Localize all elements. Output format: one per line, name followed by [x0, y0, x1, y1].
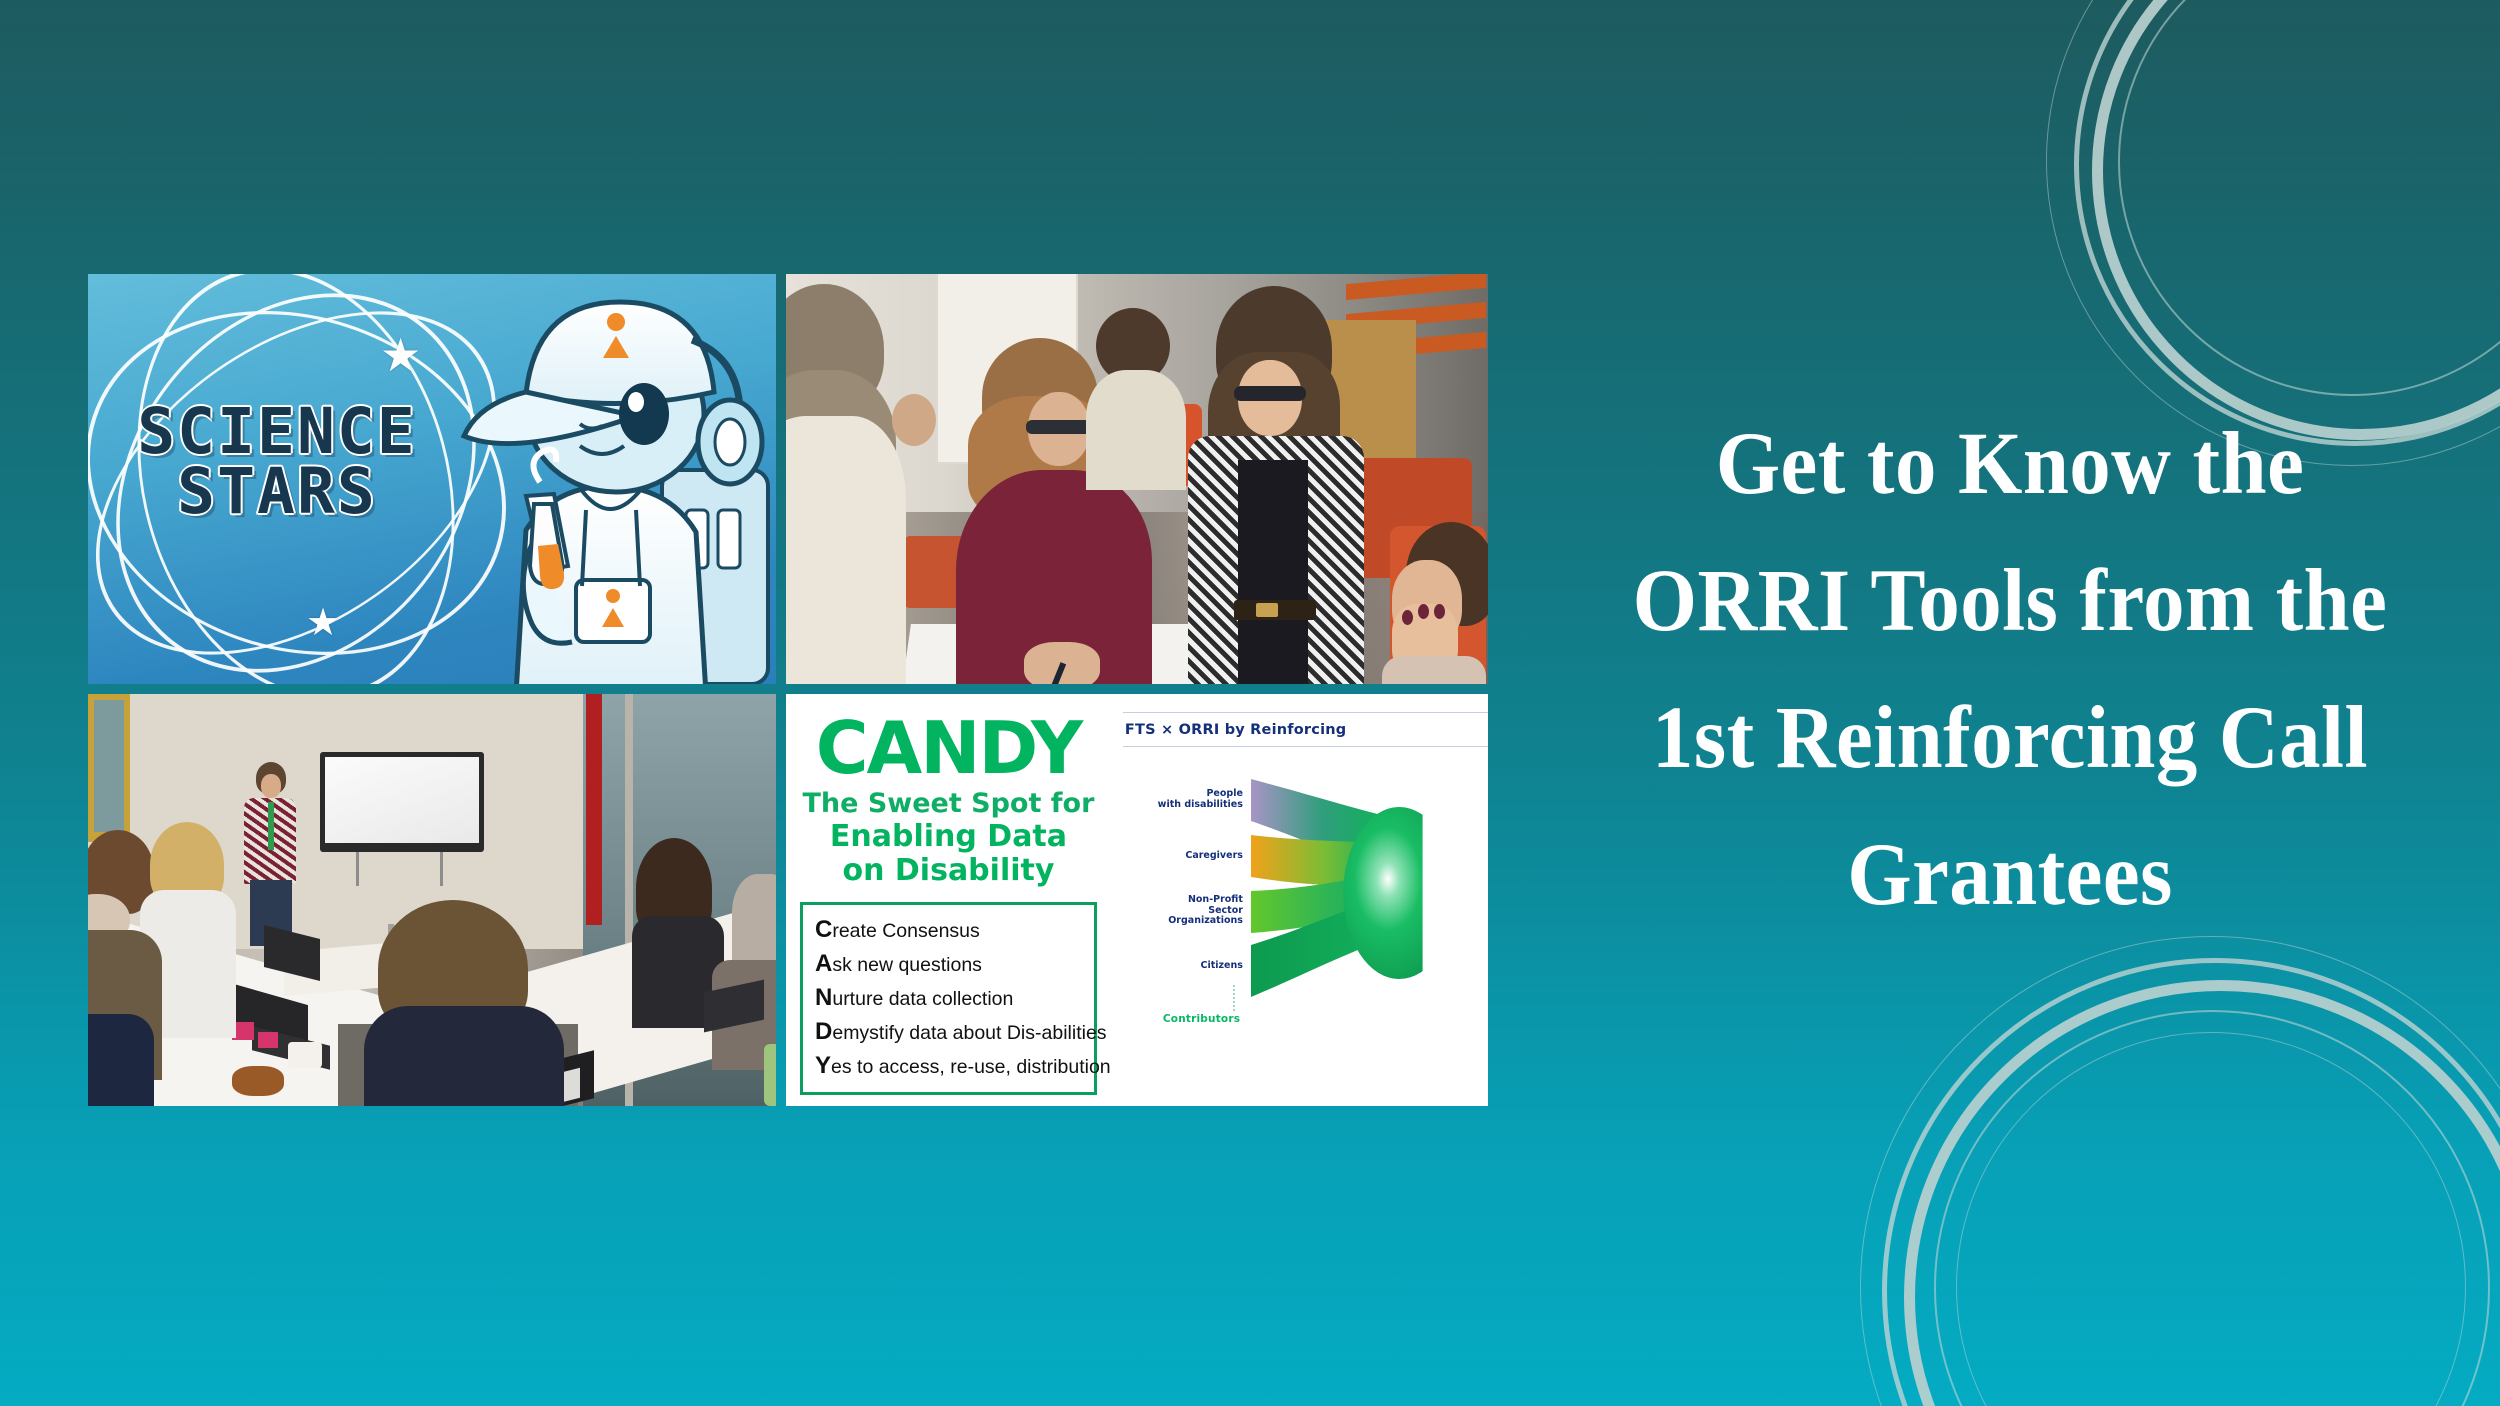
orri-sankey-panel: FTS × ORRI by Reinforcing [1109, 694, 1488, 1106]
scientist-robot-illustration [430, 274, 776, 684]
title-line-2: ORRI Tools from the [1592, 533, 2429, 670]
image-gallery-grid: ★ ★ SCIENCE STARS [88, 274, 1488, 1106]
candy-wordmark: CANDY [816, 716, 1081, 781]
divider-bottom [1123, 746, 1488, 747]
science-stars-line-1: SCIENCE [112, 402, 442, 462]
acronym-row: Ask new questions [815, 947, 1084, 981]
acronym-row: Nurture data collection [815, 981, 1084, 1015]
star-icon: ★ [380, 332, 421, 378]
candy-subtitle-block: Enabling Data on Disability [830, 820, 1067, 887]
gallery-tile-workshop-photo[interactable] [786, 274, 1488, 684]
title-line-1: Get to Know the [1592, 396, 2429, 533]
diagram-title: FTS × ORRI by Reinforcing [1123, 713, 1488, 746]
science-stars-wordmark: SCIENCE STARS [112, 402, 442, 523]
candy-subtitle-line-2: Enabling Data [830, 820, 1067, 854]
sankey-node-label-nonprofit: Non-ProfitSectorOrganizations [1123, 895, 1243, 927]
candy-subtitle-line-3: on Disability [830, 854, 1067, 888]
candy-subtitle-line-1: The Sweet Spot for [802, 789, 1094, 819]
acronym-row: Create Consensus [815, 913, 1084, 947]
sankey-node-label-people: Peoplewith disabilities [1123, 789, 1243, 810]
acronym-row: Yes to access, re-use, distribution [815, 1049, 1084, 1083]
title-line-3: 1st Reinforcing Call [1592, 670, 2429, 807]
slide-canvas: ★ ★ SCIENCE STARS [0, 0, 2500, 1406]
sankey-diagram: Peoplewith disabilities Caregivers Non-P… [1123, 763, 1488, 1043]
gallery-tile-candy-poster[interactable]: CANDY The Sweet Spot for Enabling Data o… [786, 694, 1488, 1106]
sankey-node-label-citizens: Citizens [1123, 961, 1243, 972]
decorative-circles-bottom-right [1860, 936, 2500, 1406]
candy-acronym-box: Create Consensus Ask new questions Nurtu… [800, 902, 1097, 1095]
acronym-row: Demystify data about Dis-abilities [815, 1015, 1084, 1049]
sankey-node-label-caregivers: Caregivers [1123, 851, 1243, 862]
sankey-axis-tick [1233, 985, 1235, 1011]
gallery-tile-meeting-photo[interactable] [88, 694, 776, 1106]
candy-poster-panel: CANDY The Sweet Spot for Enabling Data o… [786, 694, 1109, 1106]
title-line-4: Grantees [1592, 807, 2429, 944]
star-icon: ★ [306, 604, 340, 642]
slide-title: Get to Know the ORRI Tools from the 1st … [1560, 396, 2460, 944]
sankey-axis-label: Contributors [1163, 1013, 1240, 1025]
science-stars-line-2: STARS [112, 462, 442, 522]
gallery-tile-science-stars[interactable]: ★ ★ SCIENCE STARS [88, 274, 776, 684]
